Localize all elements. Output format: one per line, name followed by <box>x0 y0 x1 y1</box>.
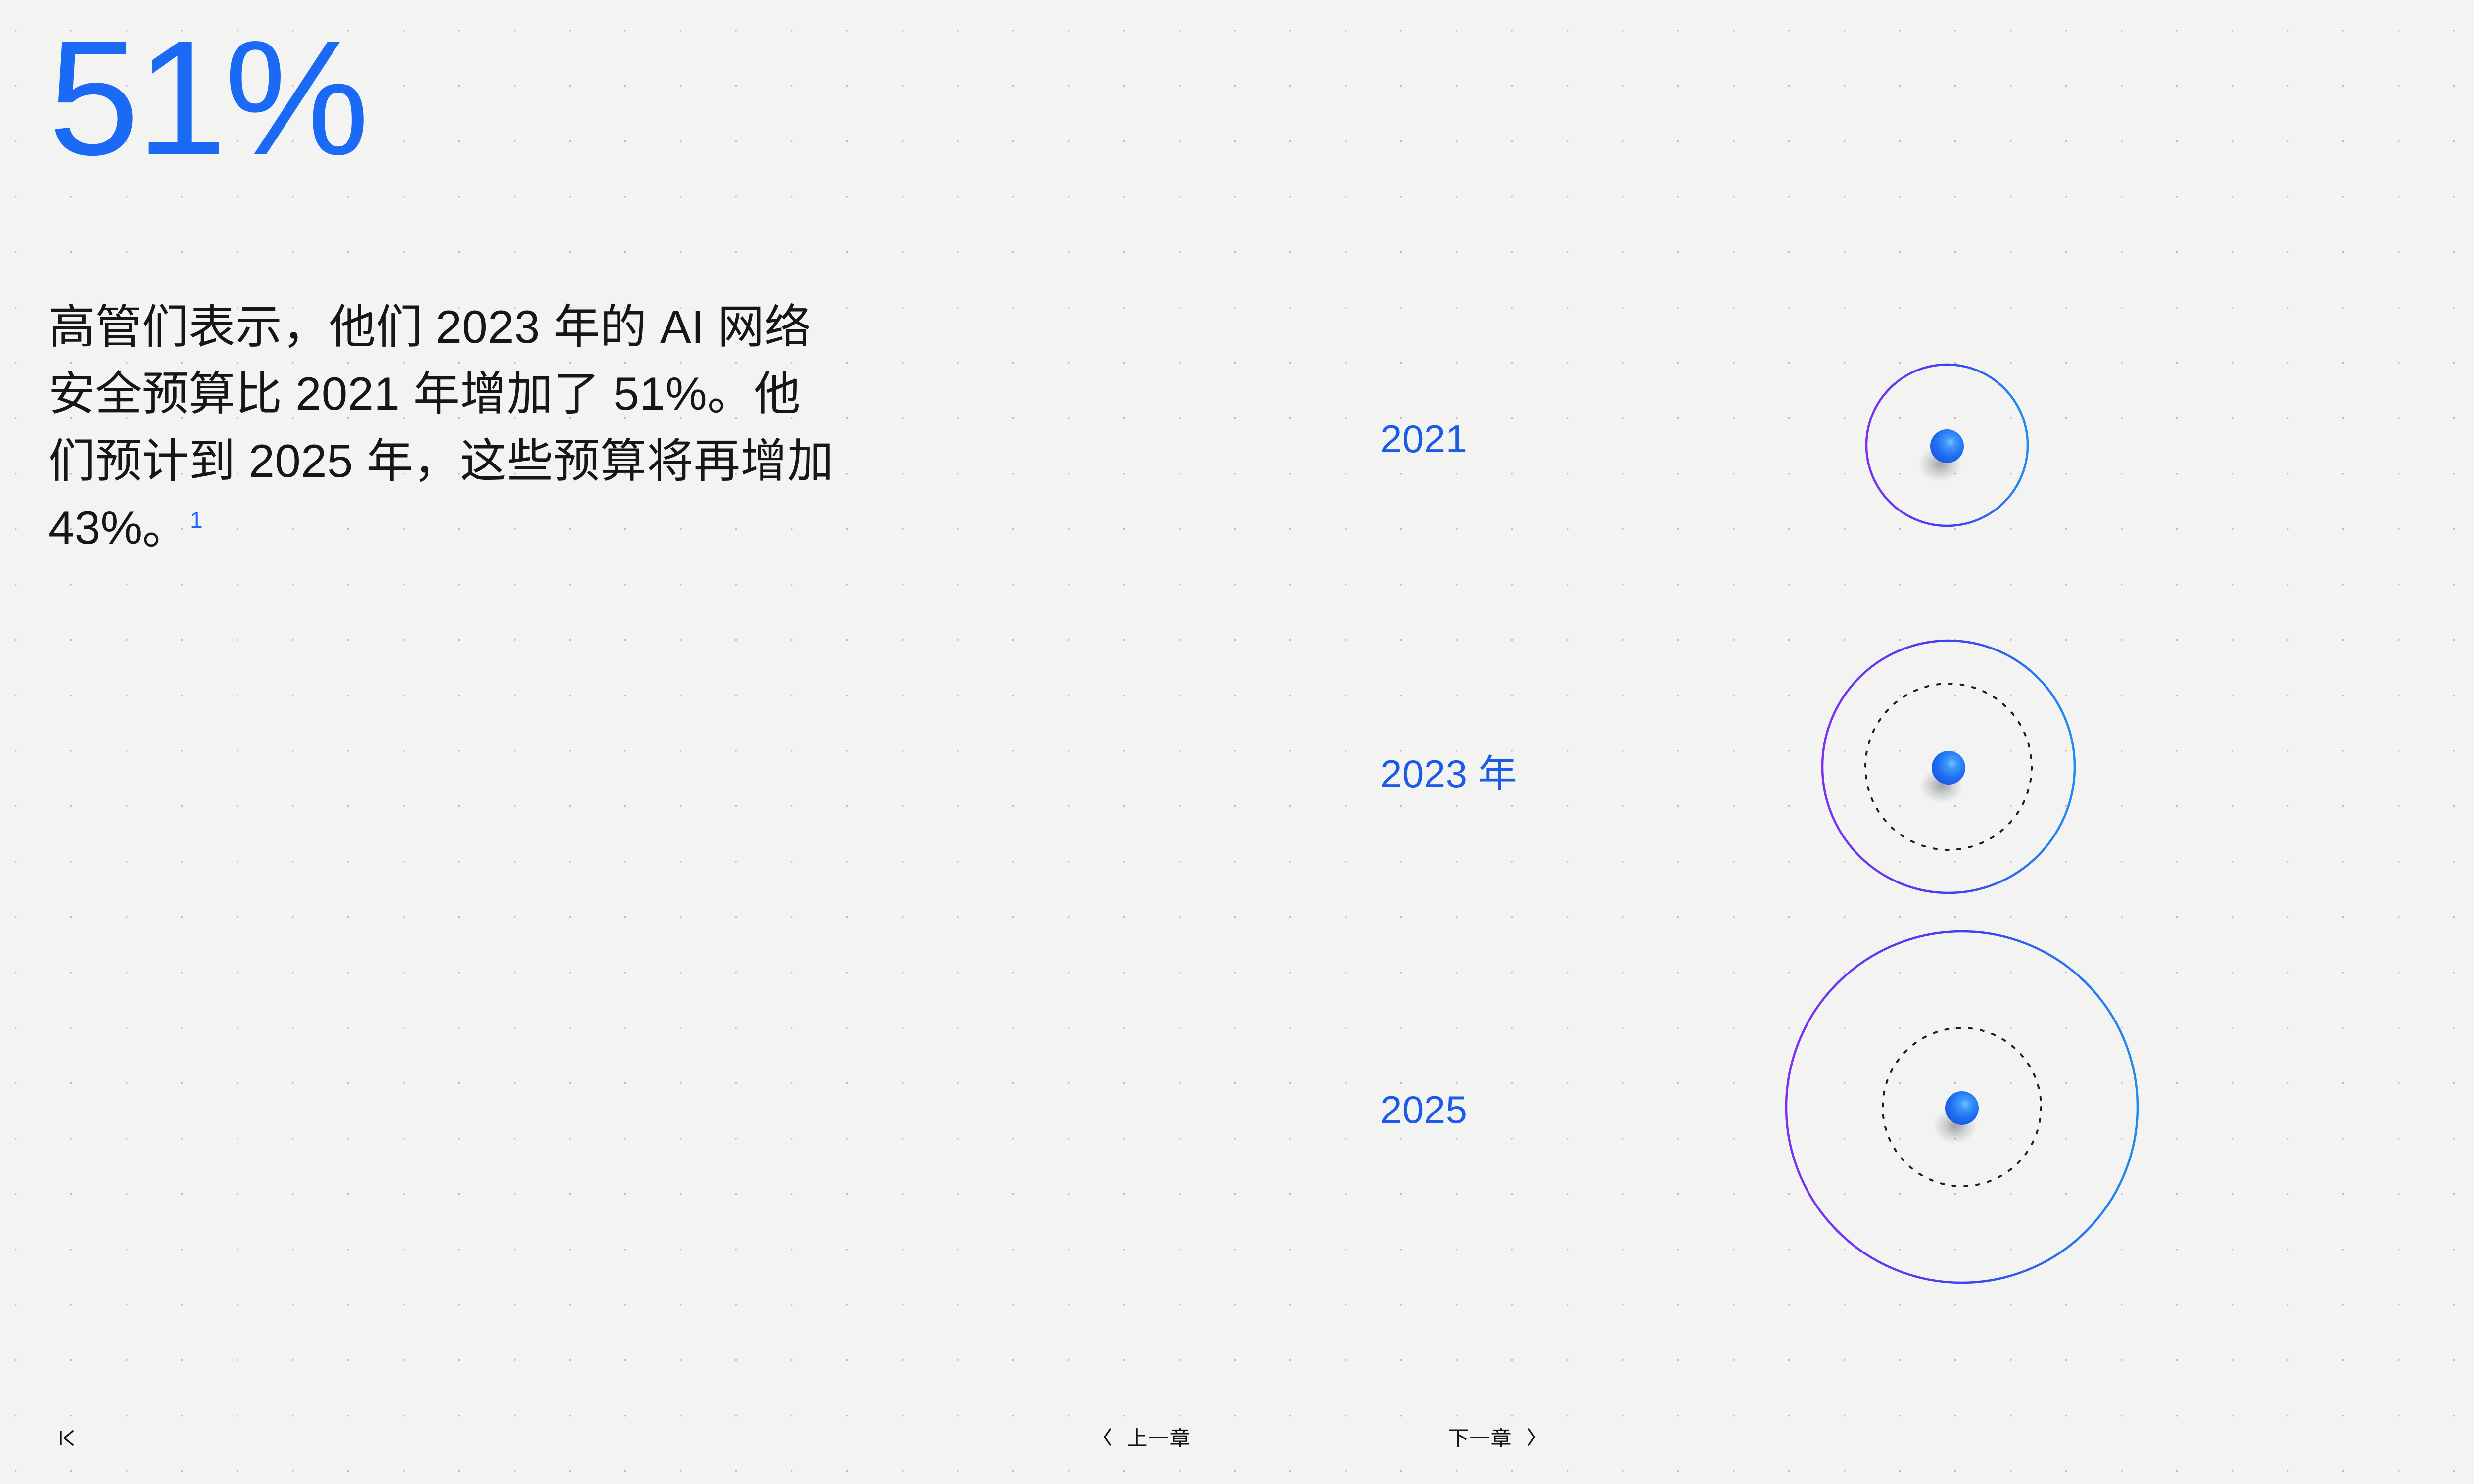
footer-navigation-bar: 上一章 下一章 8 <box>0 1400 2474 1484</box>
skip-to-first-page-button[interactable] <box>52 1424 83 1454</box>
previous-chapter-button[interactable]: 上一章 <box>1101 1422 1190 1452</box>
center-ball-2021 <box>1930 429 1964 463</box>
chevron-left-icon <box>1101 1426 1114 1448</box>
chapter-navigation: 上一章 下一章 <box>1101 1422 1537 1452</box>
bubble-group-2021 <box>1505 365 2028 526</box>
left-content-column: 51% 高管们表示，他们 2023 年的 AI 网络安全预算比 2021 年增加… <box>48 20 890 561</box>
center-ball-2023 <box>1932 751 1965 785</box>
bubble-label-2021: 2021 <box>1380 417 1468 462</box>
bubble-group-2025 <box>1505 931 2138 1283</box>
skip-to-first-icon <box>57 1427 77 1451</box>
footnote-reference-link[interactable]: 1 <box>190 507 203 533</box>
center-ball-2025 <box>1945 1091 1979 1125</box>
chevron-right-icon <box>1525 1426 1538 1448</box>
body-paragraph-text: 高管们表示，他们 2023 年的 AI 网络安全预算比 2021 年增加了 51… <box>48 301 834 554</box>
previous-chapter-label: 上一章 <box>1127 1422 1190 1452</box>
next-chapter-label: 下一章 <box>1448 1422 1512 1452</box>
bubble-label-2025: 2025 <box>1380 1087 1468 1132</box>
body-paragraph: 高管们表示，他们 2023 年的 AI 网络安全预算比 2021 年增加了 51… <box>48 293 840 561</box>
bubble-group-2023 <box>1539 641 2075 893</box>
bubble-label-2023: 2023 年 <box>1380 743 1517 798</box>
next-chapter-button[interactable]: 下一章 <box>1448 1422 1538 1452</box>
headline-stat: 51% <box>48 20 890 177</box>
